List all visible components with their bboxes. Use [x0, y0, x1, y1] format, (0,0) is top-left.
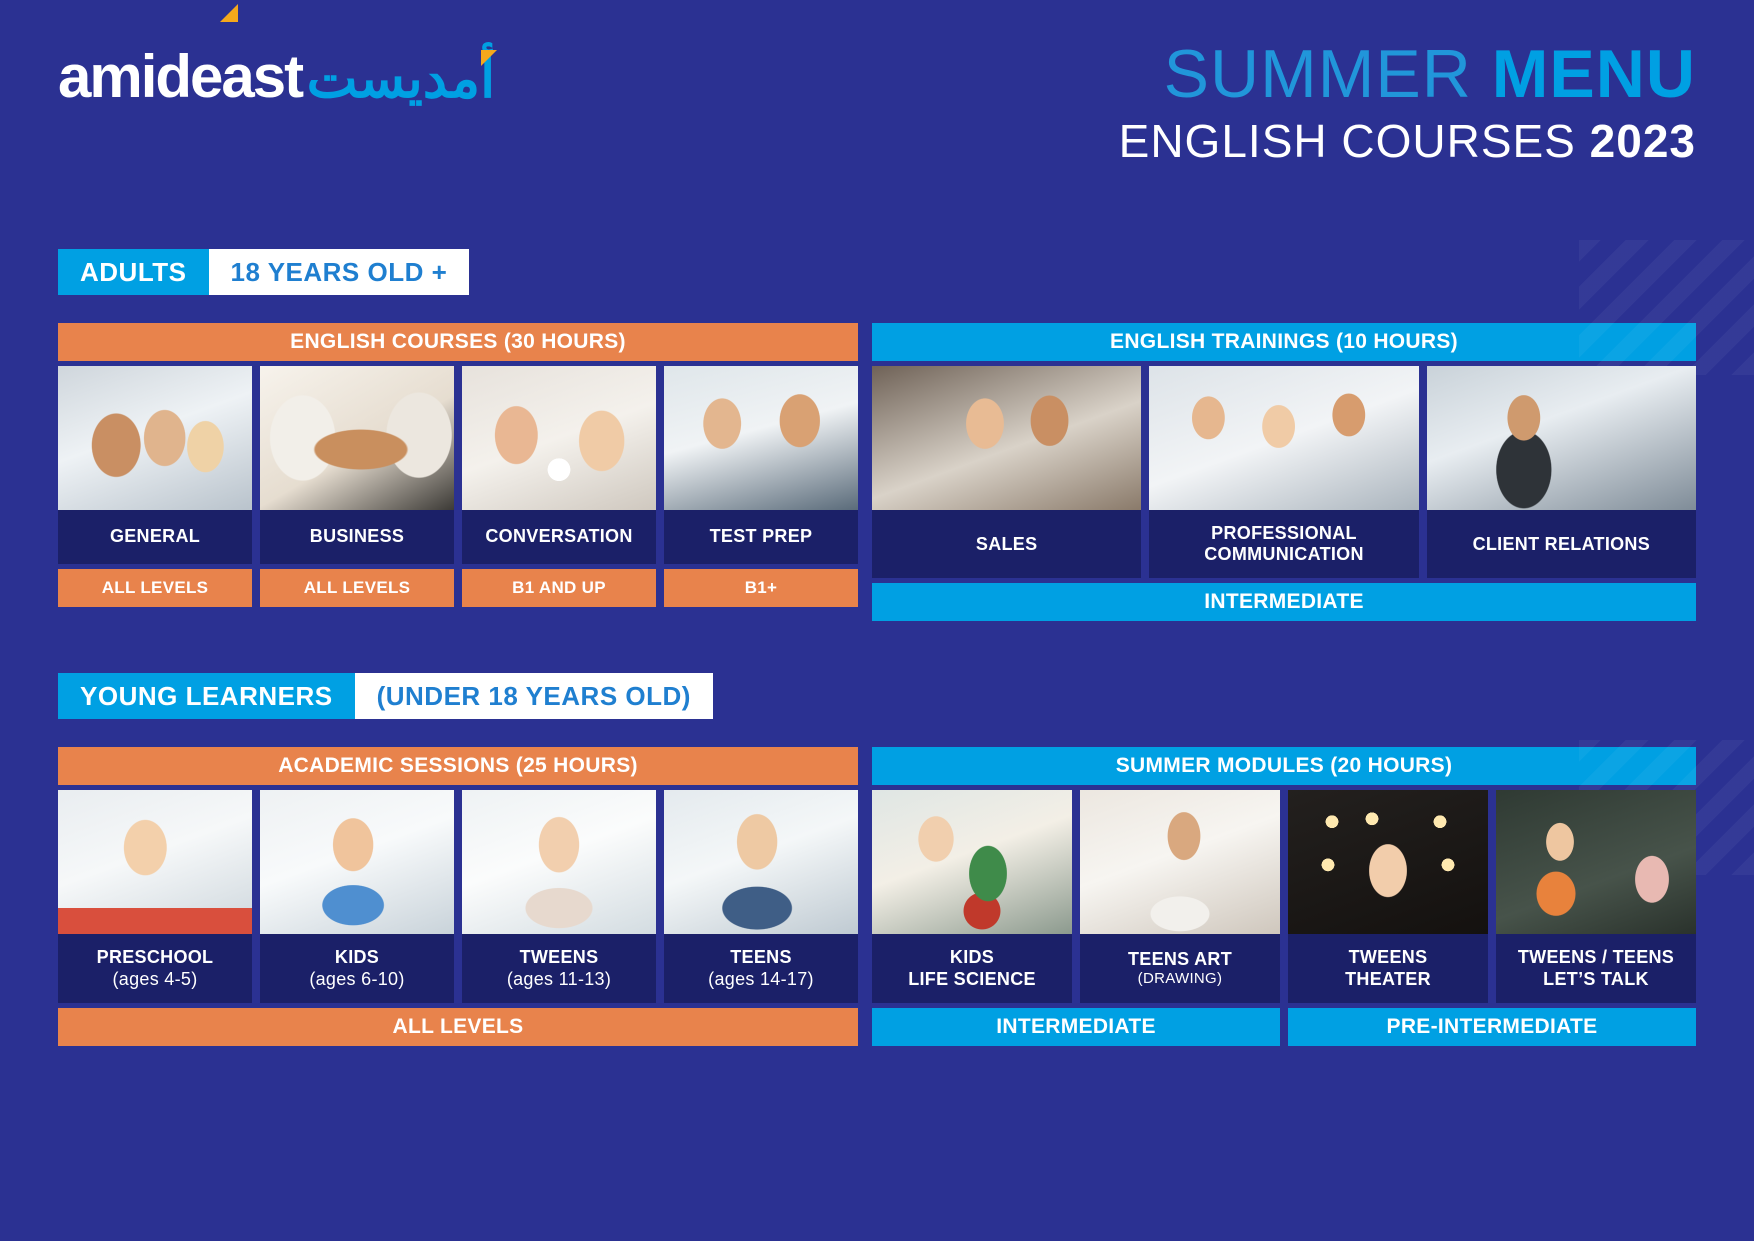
- panel-header: SUMMER MODULES (20 HOURS): [872, 747, 1696, 785]
- course-card[interactable]: PROFESSIONALCOMMUNICATION: [1149, 366, 1418, 578]
- amideast-logo: amideast أمديست: [58, 0, 495, 106]
- course-panel: SUMMER MODULES (20 HOURS)KIDSLIFE SCIENC…: [872, 747, 1696, 1045]
- level-bars: INTERMEDIATEPRE-INTERMEDIATE: [872, 1008, 1696, 1046]
- course-name-line1: TEST PREP: [668, 526, 854, 547]
- logo-arabic-accent-triangle-icon: [481, 50, 497, 66]
- audience-section: ADULTS18 YEARS OLD +ENGLISH COURSES (30 …: [0, 249, 1754, 621]
- panel-header: ENGLISH COURSES (30 HOURS): [58, 323, 858, 361]
- course-photo-image: [872, 366, 1141, 510]
- course-photo: [462, 366, 656, 510]
- level-bars: ALL LEVELSALL LEVELSB1 AND UPB1+: [58, 569, 858, 607]
- level-badge: INTERMEDIATE: [872, 1008, 1280, 1046]
- panel-header: ENGLISH TRAININGS (10 HOURS): [872, 323, 1696, 361]
- course-photo: [872, 366, 1141, 510]
- level-badge: INTERMEDIATE: [872, 583, 1696, 621]
- course-name-line1: TEENS ART: [1084, 949, 1276, 970]
- course-name-line1: CONVERSATION: [466, 526, 652, 547]
- page-header: amideast أمديست SUMMER MENU ENGLISH COUR…: [0, 0, 1754, 215]
- course-photo-image: [872, 790, 1072, 934]
- course-photo: [664, 366, 858, 510]
- course-name: GENERAL: [58, 510, 252, 564]
- course-photo-image: [1149, 366, 1418, 510]
- course-name-line1: BUSINESS: [264, 526, 450, 547]
- logo-wordmark: amideast: [58, 48, 302, 105]
- course-photo: [1288, 790, 1488, 934]
- course-cards: GENERALBUSINESSCONVERSATIONTEST PREP: [58, 366, 858, 564]
- title-year: 2023: [1590, 115, 1696, 167]
- course-card[interactable]: GENERAL: [58, 366, 252, 564]
- level-badge: ALL LEVELS: [58, 569, 252, 607]
- course-name-line1: CLIENT RELATIONS: [1431, 534, 1692, 555]
- course-card[interactable]: KIDS(ages 6-10): [260, 790, 454, 1002]
- course-card[interactable]: CLIENT RELATIONS: [1427, 366, 1696, 578]
- course-age-note: (ages 4-5): [62, 969, 248, 990]
- level-badge: PRE-INTERMEDIATE: [1288, 1008, 1696, 1046]
- course-photo: [664, 790, 858, 934]
- level-badge: ALL LEVELS: [58, 1008, 858, 1046]
- level-badge: B1 AND UP: [462, 569, 656, 607]
- title-subtitle: ENGLISH COURSES: [1119, 115, 1576, 167]
- course-name: PRESCHOOL(ages 4-5): [58, 934, 252, 1002]
- course-age-note: (ages 11-13): [466, 969, 652, 990]
- course-card[interactable]: TWEENS(ages 11-13): [462, 790, 656, 1002]
- course-cards: SALESPROFESSIONALCOMMUNICATIONCLIENT REL…: [872, 366, 1696, 578]
- course-photo-image: [1427, 366, 1696, 510]
- course-photo-image: [260, 790, 454, 934]
- course-photo: [1496, 790, 1696, 934]
- course-name-line1: TWEENS / TEENS: [1500, 947, 1692, 968]
- course-card[interactable]: BUSINESS: [260, 366, 454, 564]
- course-cards: PRESCHOOL(ages 4-5)KIDS(ages 6-10)TWEENS…: [58, 790, 858, 1002]
- course-name: CONVERSATION: [462, 510, 656, 564]
- course-photo: [1149, 366, 1418, 510]
- course-photo-image: [58, 366, 252, 510]
- course-name-line2: LET’S TALK: [1500, 969, 1692, 990]
- course-photo: [462, 790, 656, 934]
- course-name-line1: GENERAL: [62, 526, 248, 547]
- course-name: BUSINESS: [260, 510, 454, 564]
- panels-row: ENGLISH COURSES (30 HOURS)GENERALBUSINES…: [58, 323, 1696, 621]
- logo-accent-triangle-icon: [220, 4, 238, 22]
- course-photo-image: [664, 790, 858, 934]
- course-name: KIDSLIFE SCIENCE: [872, 934, 1072, 1002]
- course-card[interactable]: TWEENS / TEENSLET’S TALK: [1496, 790, 1696, 1002]
- audience-band: ADULTS18 YEARS OLD +: [58, 249, 469, 295]
- course-name-line2: THEATER: [1292, 969, 1484, 990]
- course-name: PROFESSIONALCOMMUNICATION: [1149, 510, 1418, 578]
- title-summer: SUMMER: [1164, 36, 1472, 112]
- course-name: TWEENS(ages 11-13): [462, 934, 656, 1002]
- course-name: SALES: [872, 510, 1141, 578]
- course-photo-image: [1080, 790, 1280, 934]
- course-name: TEENS ART(DRAWING): [1080, 934, 1280, 1002]
- course-photo-image: [1288, 790, 1488, 934]
- title-line-secondary: ENGLISH COURSES 2023: [1119, 116, 1696, 167]
- course-photo: [58, 366, 252, 510]
- course-sub-note: (DRAWING): [1084, 970, 1276, 988]
- course-age-note: (ages 14-17): [668, 969, 854, 990]
- course-card[interactable]: TEST PREP: [664, 366, 858, 564]
- panels-row: ACADEMIC SESSIONS (25 HOURS)PRESCHOOL(ag…: [58, 747, 1696, 1045]
- course-photo-image: [58, 790, 252, 934]
- level-badge: ALL LEVELS: [260, 569, 454, 607]
- course-card[interactable]: SALES: [872, 366, 1141, 578]
- course-photo: [1080, 790, 1280, 934]
- course-photo: [260, 790, 454, 934]
- course-photo-image: [462, 790, 656, 934]
- audience-tag: ADULTS: [58, 249, 209, 295]
- course-photo: [58, 790, 252, 934]
- title-menu: MENU: [1492, 36, 1696, 112]
- course-photo-image: [664, 366, 858, 510]
- course-name: CLIENT RELATIONS: [1427, 510, 1696, 578]
- course-photo-image: [1496, 790, 1696, 934]
- level-bars: ALL LEVELS: [58, 1008, 858, 1046]
- course-name-line1: TWEENS: [466, 947, 652, 968]
- course-name-line1: SALES: [876, 534, 1137, 555]
- logo-arabic-wordmark: أمديست: [307, 52, 496, 106]
- course-name-line1: PRESCHOOL: [62, 947, 248, 968]
- course-card[interactable]: KIDSLIFE SCIENCE: [872, 790, 1072, 1002]
- course-name: TEENS(ages 14-17): [664, 934, 858, 1002]
- course-name-line2: COMMUNICATION: [1153, 544, 1414, 565]
- course-name: TWEENSTHEATER: [1288, 934, 1488, 1002]
- course-card[interactable]: PRESCHOOL(ages 4-5): [58, 790, 252, 1002]
- course-photo-image: [462, 366, 656, 510]
- course-name-line1: PROFESSIONAL: [1153, 523, 1414, 544]
- course-panel: ENGLISH TRAININGS (10 HOURS)SALESPROFESS…: [872, 323, 1696, 621]
- course-card[interactable]: TEENS ART(DRAWING): [1080, 790, 1280, 1002]
- course-name-line1: KIDS: [876, 947, 1068, 968]
- audience-age-range: 18 YEARS OLD +: [209, 249, 470, 295]
- course-name-line1: KIDS: [264, 947, 450, 968]
- course-cards: KIDSLIFE SCIENCETEENS ART(DRAWING)TWEENS…: [872, 790, 1696, 1002]
- audience-age-range: (UNDER 18 YEARS OLD): [355, 673, 713, 719]
- course-panel: ACADEMIC SESSIONS (25 HOURS)PRESCHOOL(ag…: [58, 747, 858, 1045]
- course-card[interactable]: TEENS(ages 14-17): [664, 790, 858, 1002]
- course-name-line1: TWEENS: [1292, 947, 1484, 968]
- panel-header: ACADEMIC SESSIONS (25 HOURS): [58, 747, 858, 785]
- audience-band: YOUNG LEARNERS(UNDER 18 YEARS OLD): [58, 673, 713, 719]
- sections-container: ADULTS18 YEARS OLD +ENGLISH COURSES (30 …: [0, 249, 1754, 1046]
- course-name-line1: TEENS: [668, 947, 854, 968]
- audience-tag: YOUNG LEARNERS: [58, 673, 355, 719]
- course-card[interactable]: TWEENSTHEATER: [1288, 790, 1488, 1002]
- course-card[interactable]: CONVERSATION: [462, 366, 656, 564]
- course-age-note: (ages 6-10): [264, 969, 450, 990]
- course-photo: [872, 790, 1072, 934]
- course-name: TEST PREP: [664, 510, 858, 564]
- course-photo-image: [260, 366, 454, 510]
- course-photo: [1427, 366, 1696, 510]
- course-panel: ENGLISH COURSES (30 HOURS)GENERALBUSINES…: [58, 323, 858, 621]
- audience-section: YOUNG LEARNERS(UNDER 18 YEARS OLD)ACADEM…: [0, 673, 1754, 1045]
- level-bars: INTERMEDIATE: [872, 583, 1696, 621]
- course-name-line2: LIFE SCIENCE: [876, 969, 1068, 990]
- level-badge: B1+: [664, 569, 858, 607]
- course-photo: [260, 366, 454, 510]
- page-title: SUMMER MENU ENGLISH COURSES 2023: [1119, 0, 1696, 167]
- title-line-primary: SUMMER MENU: [1119, 40, 1696, 108]
- course-name: TWEENS / TEENSLET’S TALK: [1496, 934, 1696, 1002]
- course-name: KIDS(ages 6-10): [260, 934, 454, 1002]
